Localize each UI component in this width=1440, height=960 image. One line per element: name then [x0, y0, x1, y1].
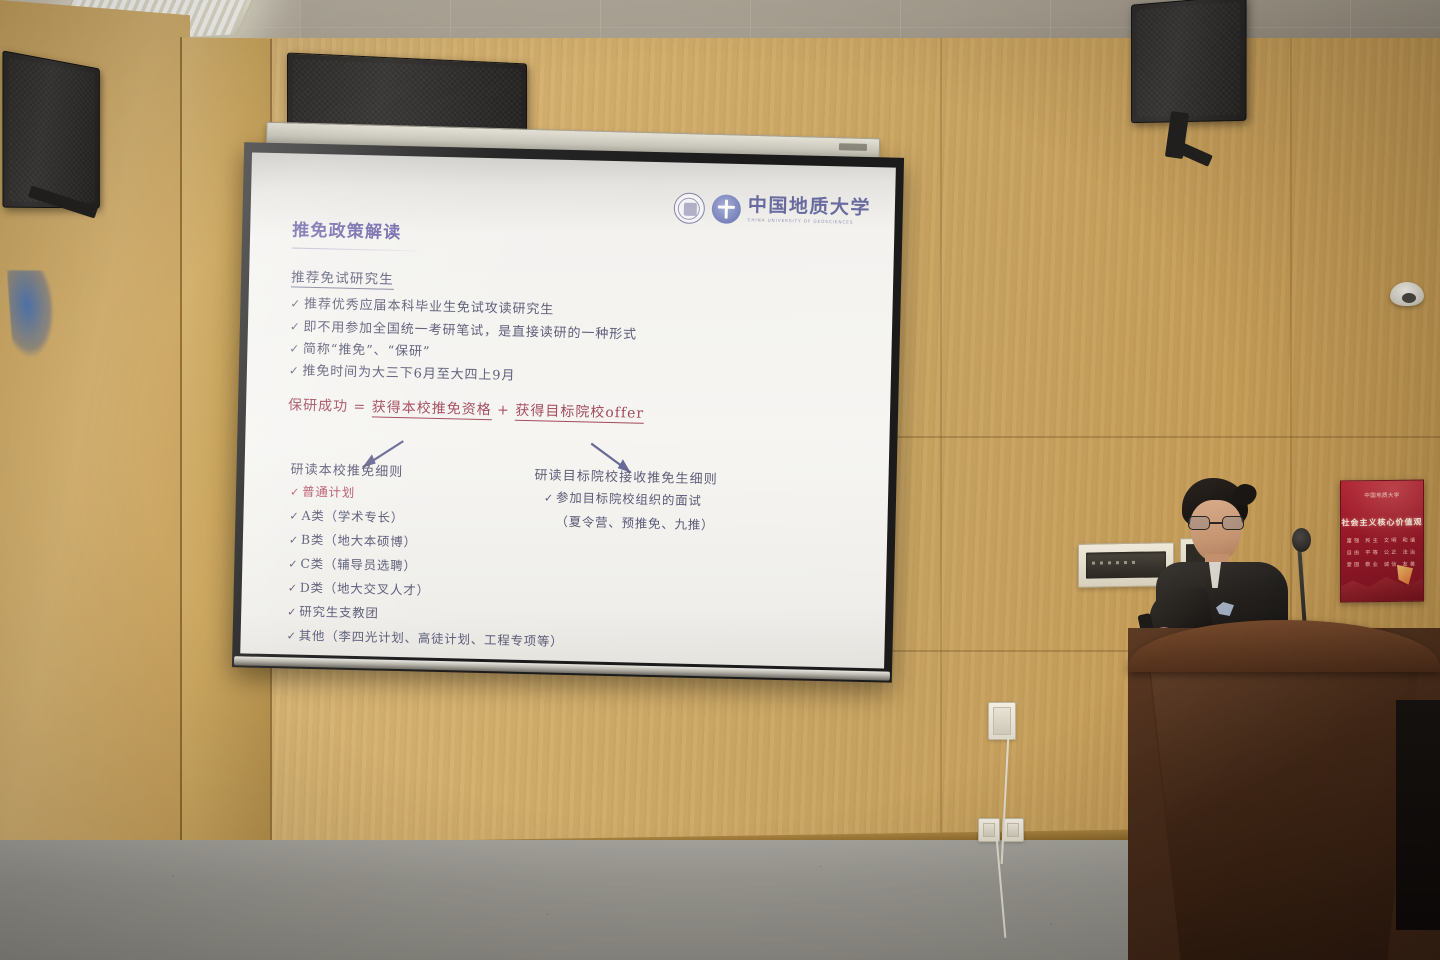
projection-screen-icon[interactable]: 中国地质大学 CHINA UNIVERSITY OF GEOSCIENCES 推…: [232, 142, 904, 682]
column-item-text: （夏令营、预推免、九推）: [555, 514, 714, 533]
university-logo: 中国地质大学 CHINA UNIVERSITY OF GEOSCIENCES: [673, 192, 871, 228]
title-underline: [292, 247, 416, 251]
check-icon: ✓: [289, 533, 299, 546]
university-name-cn: 中国地质大学: [748, 197, 871, 219]
column-item-text: A类（学术专长）: [301, 508, 404, 525]
column-item: ✓参加目标院校组织的面试: [534, 487, 718, 511]
column-item: ✓A类（学术专长）: [289, 505, 566, 532]
eyeglasses-icon: [1188, 516, 1244, 530]
column-item-text: 参加目标院校组织的面试: [556, 490, 702, 508]
presenter-face: [1190, 500, 1242, 562]
check-icon: ✓: [544, 491, 554, 504]
column-heading: 研读目标院校接收推免生细则: [534, 464, 718, 487]
column-item: ✓其他（李四光计划、高徒计划、工程专项等）: [286, 626, 563, 653]
equation-lead: 保研成功 =: [288, 397, 367, 415]
poster-header: 中国地质大学: [1341, 491, 1423, 500]
lecture-hall-scene: 中国地质大学 CHINA UNIVERSITY OF GEOSCIENCES 推…: [0, 0, 1440, 960]
check-icon: ✓: [290, 319, 301, 333]
column-item-text: B类（地大本硕博）: [301, 532, 417, 550]
equation-term-1: 获得本校推免资格: [371, 399, 491, 420]
loudspeaker-icon: [2, 50, 99, 208]
column-own-university: 研读本校推免细则 ✓普通计划 ✓A类（学术专长） ✓B类（地大本硕博） ✓C类（…: [286, 458, 567, 652]
bullet-text: 即不用参加全国统一考研笔试，是直接读研的一种形式: [303, 319, 637, 342]
bullet-text: 推荐优秀应届本科毕业生免试攻读研究生: [304, 297, 554, 318]
wall-decoration: [7, 270, 57, 357]
bullet-text: 推免时间为大三下6月至大四上9月: [302, 364, 515, 384]
column-item: ✓B类（地大本硕博）: [289, 529, 566, 556]
loudspeaker-icon: [1131, 0, 1247, 123]
power-outlet-icon[interactable]: [1002, 818, 1024, 842]
two-column-detail: 研读本校推免细则 ✓普通计划 ✓A类（学术专长） ✓B类（地大本硕博） ✓C类（…: [283, 440, 859, 623]
dome-camera-icon: [1390, 282, 1424, 306]
check-icon: ✓: [286, 630, 296, 643]
equation-term-2: 获得目标院校offer: [515, 403, 644, 424]
check-icon: ✓: [290, 297, 301, 311]
column-item: ✓普通计划: [290, 481, 567, 508]
column-heading: 研读本校推免细则: [290, 458, 567, 484]
university-emblem-icon: [711, 194, 741, 224]
wall-seam: [940, 38, 942, 888]
microphone-icon: [1292, 528, 1311, 552]
column-item: ✓研究生支教团: [287, 602, 564, 629]
section-heading: 推荐免试研究生: [291, 266, 394, 290]
column-item-text: 普通计划: [302, 484, 355, 500]
column-item-text: 研究生支教团: [299, 604, 379, 621]
column-item-text: 其他（李四光计划、高徒计划、工程专项等）: [299, 628, 564, 649]
poster-title: 社会主义核心价值观: [1341, 517, 1423, 529]
university-name-en: CHINA UNIVERSITY OF GEOSCIENCES: [748, 219, 871, 226]
column-target-university: 研读目标院校接收推免生细则 ✓参加目标院校组织的面试 （夏令营、预推免、九推）: [533, 464, 718, 535]
check-icon: ✓: [288, 558, 298, 571]
poster-values-line: 自由 平等 公正 法治: [1341, 549, 1423, 557]
column-item: ✓D类（地大交叉人才）: [288, 578, 565, 605]
poster-values-line: 富强 民主 文明 和谐: [1341, 537, 1423, 545]
column-item-text: D类（地大交叉人才）: [300, 580, 430, 598]
column-item-text: C类（辅导员选聘）: [300, 556, 417, 574]
check-icon: ✓: [289, 342, 300, 356]
check-icon: ✓: [290, 485, 300, 498]
check-icon: ✓: [287, 606, 297, 619]
poster-values-line: 爱国 敬业 诚信 友善: [1341, 561, 1423, 569]
check-icon: ✓: [288, 582, 298, 595]
bullet-text: 简称“推免”、“保研”: [303, 342, 431, 360]
key-equation: 保研成功 = 获得本校推免资格 + 获得目标院校offer: [288, 394, 860, 427]
socialist-core-values-poster: 中国地质大学 社会主义核心价值观 富强 民主 文明 和谐 自由 平等 公正 法治…: [1340, 480, 1424, 603]
column-item: （夏令营、预推免、九推）: [533, 511, 717, 535]
check-icon: ✓: [289, 364, 300, 378]
check-icon: ✓: [289, 509, 299, 522]
bullet-list: ✓推荐优秀应届本科毕业生免试攻读研究生 ✓即不用参加全国统一考研笔试，是直接读研…: [289, 294, 863, 397]
presentation-slide: 中国地质大学 CHINA UNIVERSITY OF GEOSCIENCES 推…: [240, 152, 896, 668]
equation-plus: +: [497, 402, 510, 418]
lectern-highlight: [1150, 664, 1410, 954]
lectern-side-shadow: [1396, 700, 1440, 930]
column-item: ✓C类（辅导员选聘）: [288, 554, 565, 581]
university-seal-icon: [673, 192, 705, 224]
power-outlet-icon[interactable]: [988, 702, 1016, 740]
